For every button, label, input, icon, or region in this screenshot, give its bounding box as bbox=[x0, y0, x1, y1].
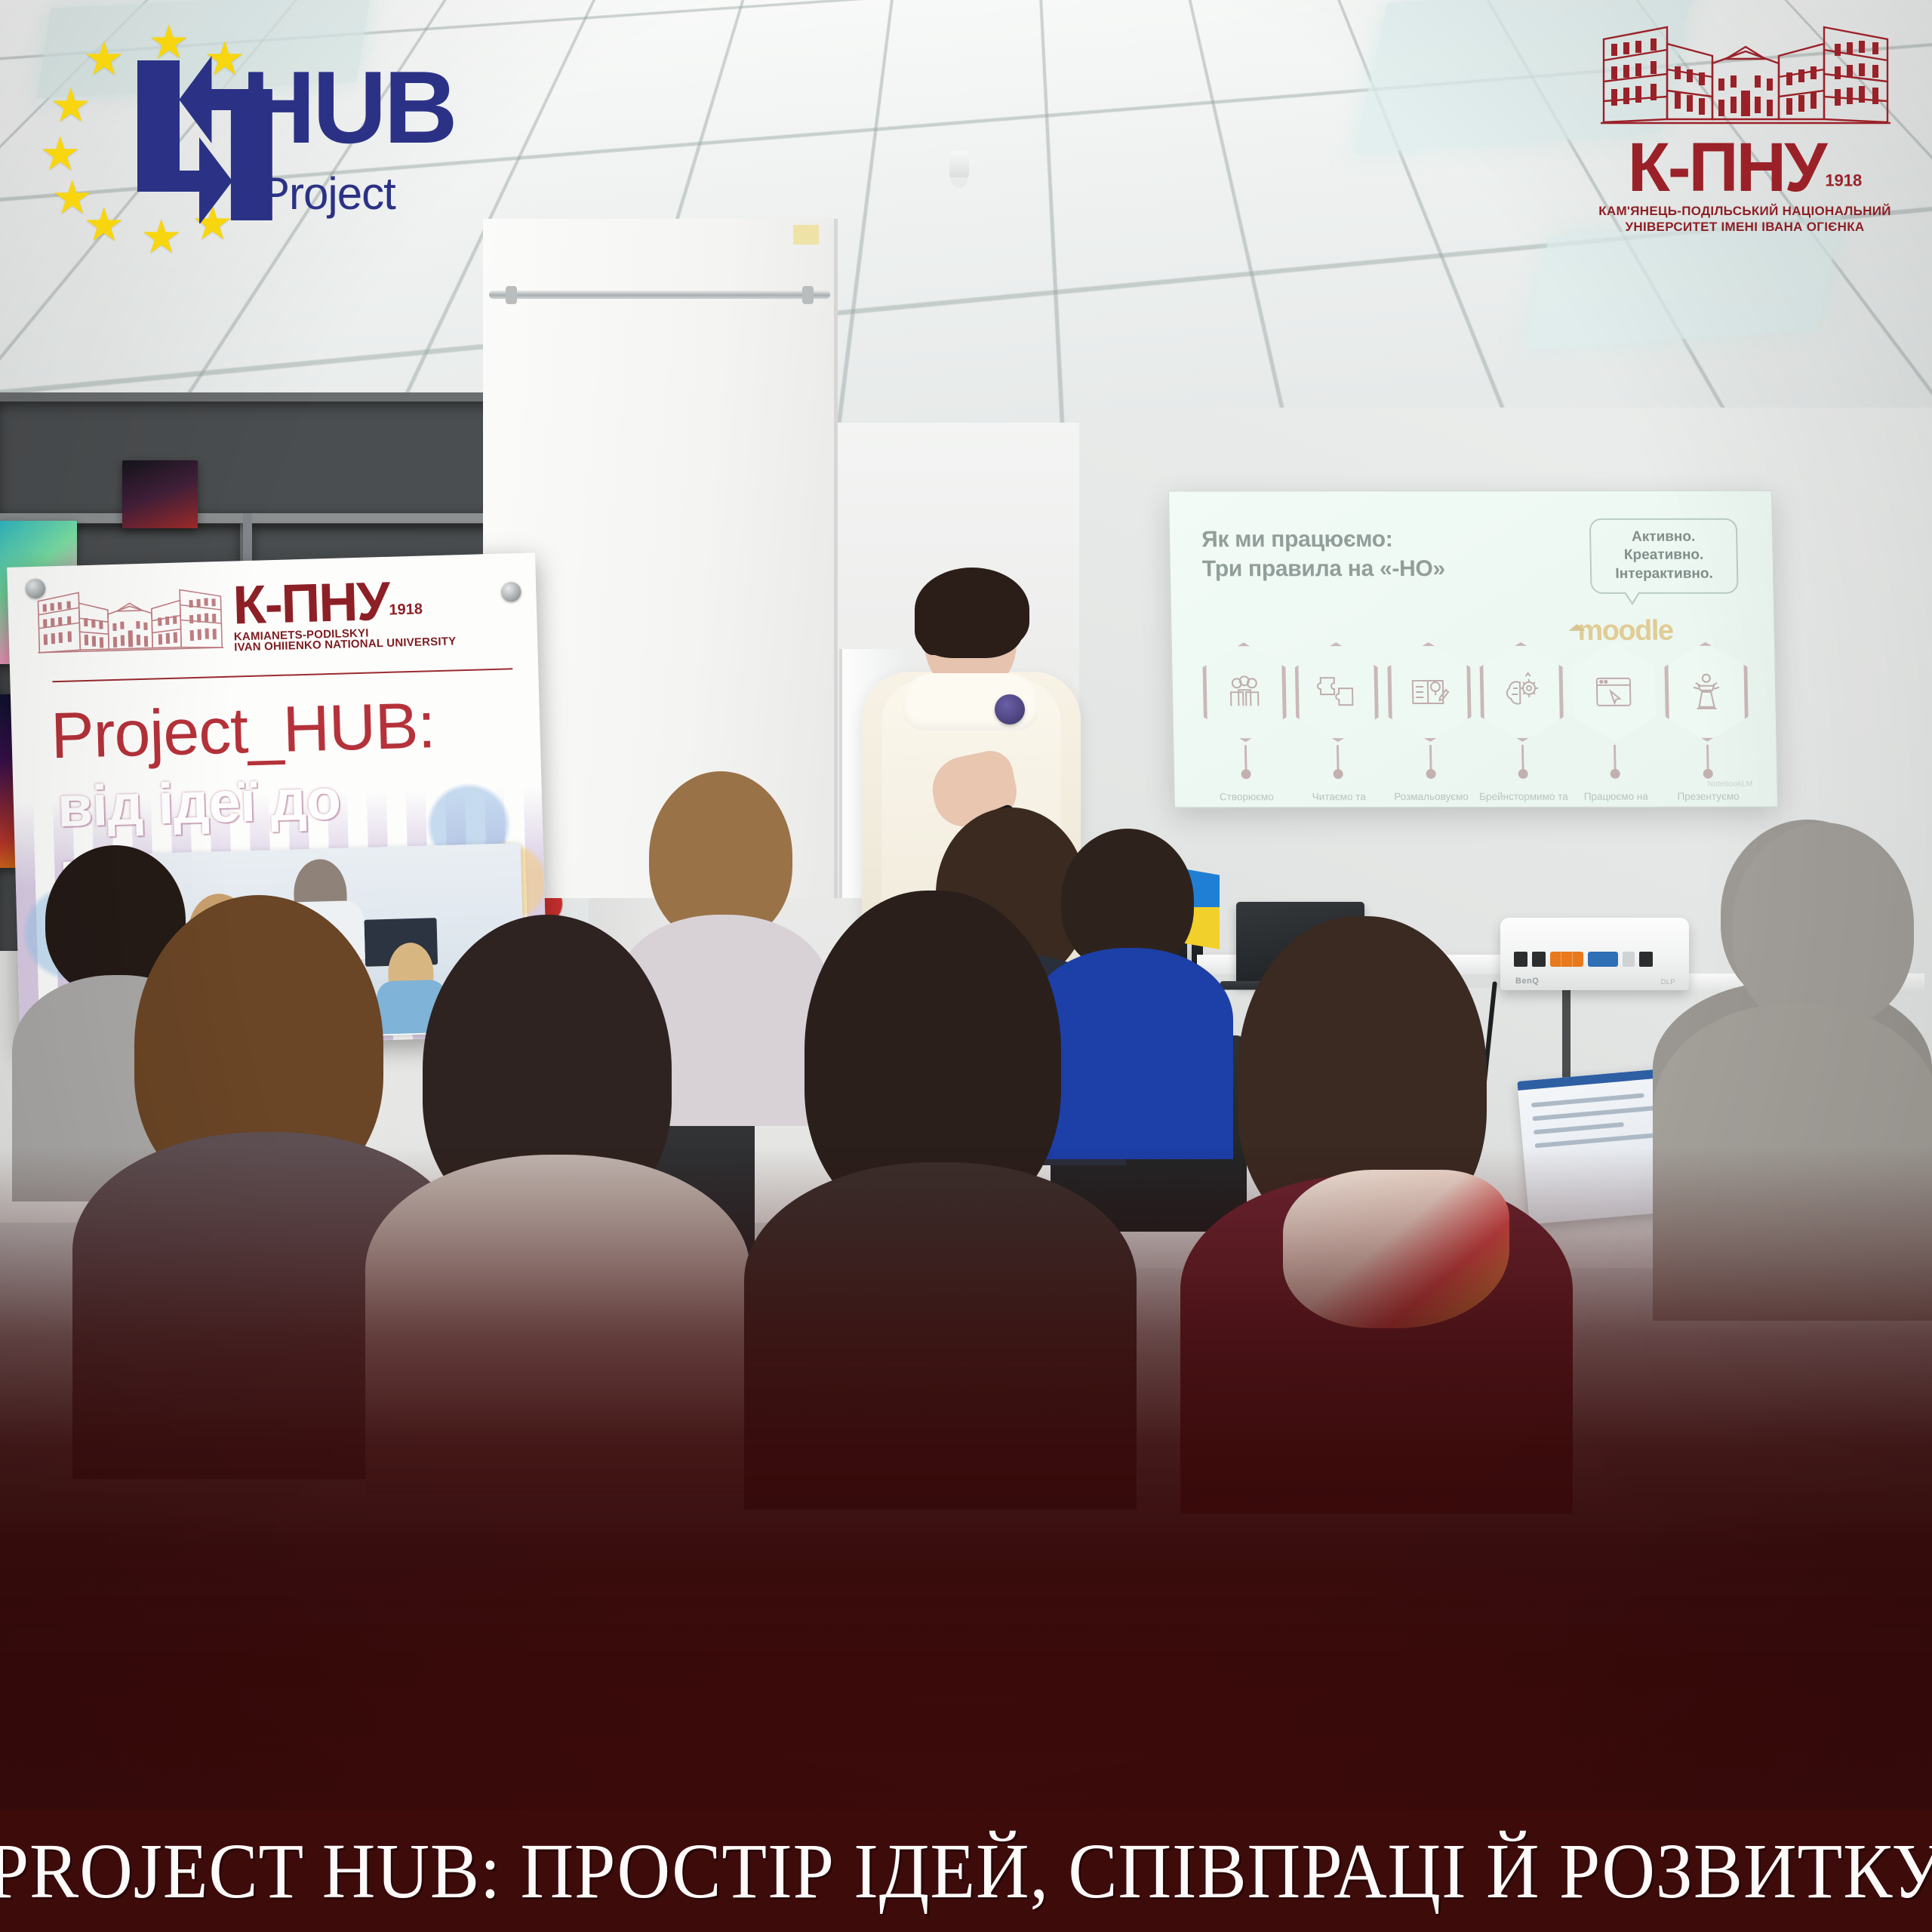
projector-brand: BenQ bbox=[1515, 977, 1539, 986]
slide-step: Брейнстормимо та продукуємо ідеї. bbox=[1475, 642, 1569, 742]
hub-project-logo: ★ ★ ★ ★ ★ ★ ★ ★ ★ ★ ★ ★ HUB Project bbox=[44, 20, 376, 246]
caption-bar: PROJECT HUB: ПРОСТІР ІДЕЙ, СПІВПРАЦІ Й Р… bbox=[0, 1810, 1932, 1932]
caption-text: PROJECT HUB: ПРОСТІР ІДЕЙ, СПІВПРАЦІ Й Р… bbox=[0, 1826, 1932, 1916]
university-building-icon bbox=[35, 581, 226, 659]
slide-step-caption: Брейнстормимо та продукуємо ідеї. bbox=[1479, 790, 1569, 808]
slide-step: Читаємо та складаємо (Jigsaw reading). bbox=[1290, 642, 1384, 742]
sketchbook-icon bbox=[1387, 642, 1472, 742]
slide-step-caption: Створюємо команду однодумців та будуємо … bbox=[1202, 790, 1293, 808]
speaker-badge bbox=[995, 694, 1025, 724]
slide-step: Розмальовуємо ескізи та переймаємо досві… bbox=[1382, 642, 1476, 742]
slide-step-caption: Презентуємо пітчинги проєктів (конференц… bbox=[1663, 790, 1754, 808]
shelf-artwork bbox=[122, 460, 198, 528]
smoke-detector-icon bbox=[949, 151, 969, 181]
photo-composition: К-ПНУ1918 KAMIANETS-PODILSKYI IVAN OHIIE… bbox=[0, 0, 1932, 1932]
kpnu-logo: К-ПНУ1918 КАМ'ЯНЕЦЬ-ПОДІЛЬСЬКИЙ НАЦІОНАЛ… bbox=[1594, 17, 1896, 243]
slide-step-caption: Читаємо та складаємо (Jigsaw reading). bbox=[1294, 790, 1384, 808]
university-building-icon bbox=[1598, 17, 1892, 130]
hub-wordmark: HUB bbox=[241, 56, 455, 158]
slide-step-caption: Працюємо на платформі (Moodle: курс 2525… bbox=[1571, 790, 1662, 808]
puzzle-icon bbox=[1294, 642, 1380, 742]
kpnu-wordmark: К-ПНУ1918 КАМ'ЯНЕЦЬ-ПОДІЛЬСЬКИЙ НАЦІОНАЛ… bbox=[1594, 137, 1896, 235]
banner-org-logo: К-ПНУ1918 KAMIANETS-PODILSKYI IVAN OHIIE… bbox=[232, 574, 457, 653]
floral-scarf bbox=[1283, 1170, 1509, 1328]
pillar-tape-mark bbox=[793, 225, 819, 245]
banner-title: Project_HUB: bbox=[50, 688, 436, 774]
slide-callout: Активно. Креативно. Інтерактивно. bbox=[1589, 518, 1739, 594]
podium-speaker-icon bbox=[1664, 642, 1749, 742]
projector-feature-label: DLP bbox=[1661, 978, 1675, 986]
projection-screen: Як ми працюємо: Три правила на «-НО» Акт… bbox=[1168, 491, 1778, 808]
pillar-rail bbox=[489, 291, 830, 299]
projector-ports bbox=[1514, 948, 1677, 971]
kpnu-subtitle: КАМ'ЯНЕЦЬ-ПОДІЛЬСЬКИЙ НАЦІОНАЛЬНИЙ УНІВЕ… bbox=[1594, 204, 1896, 235]
slide-title: Як ми працюємо: Три правила на «-НО» bbox=[1201, 525, 1445, 583]
browser-cursor-icon bbox=[1571, 642, 1657, 742]
brain-gear-icon bbox=[1479, 642, 1564, 742]
projector: BenQ DLP bbox=[1500, 918, 1689, 990]
slide-step: Працюємо на платформі (Moodle: курс 2525… bbox=[1567, 642, 1661, 742]
slide-step: Створюємо команду однодумців та будуємо … bbox=[1198, 642, 1292, 742]
slide-step: Презентуємо пітчинги проєктів (конференц… bbox=[1660, 642, 1754, 742]
slide-watermark: NotebookLM bbox=[1708, 780, 1753, 789]
slide-step-row: Створюємо команду однодумців та будуємо … bbox=[1198, 642, 1754, 743]
hub-subtitle: Project bbox=[260, 168, 395, 220]
team-people-icon bbox=[1202, 642, 1287, 742]
slide-step-caption: Розмальовуємо ескізи та переймаємо досві… bbox=[1386, 790, 1477, 808]
